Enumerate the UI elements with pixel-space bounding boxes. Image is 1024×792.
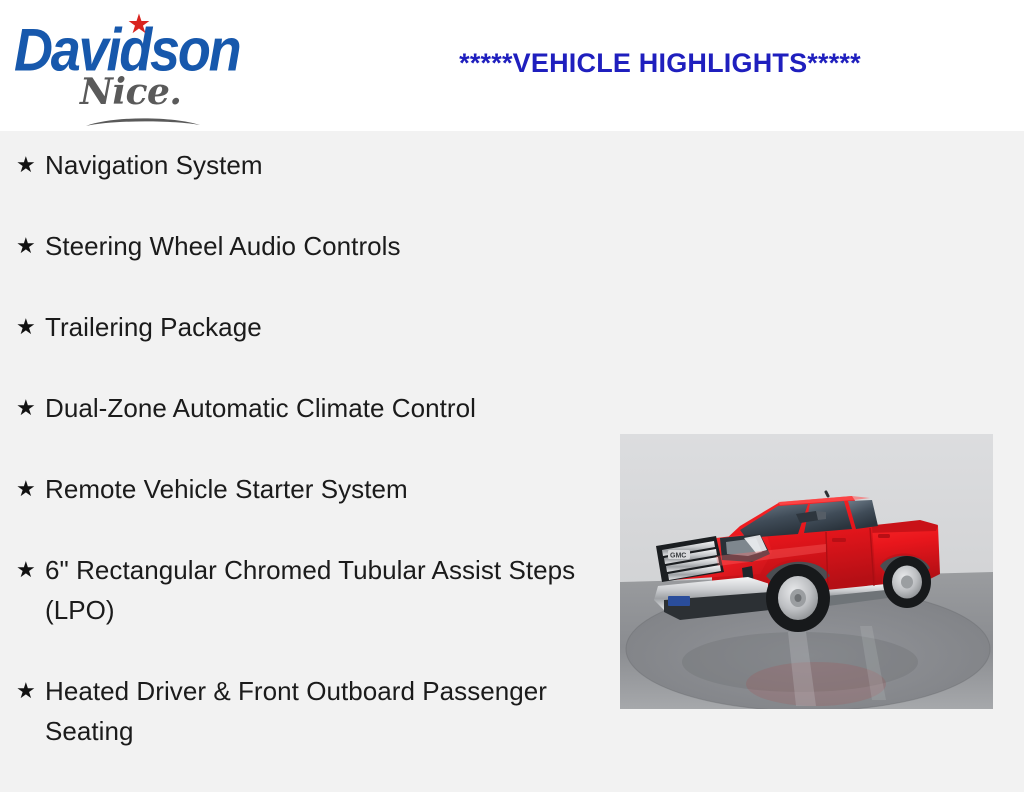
page-title: *****VEHICLE HIGHLIGHTS***** xyxy=(380,48,940,79)
svg-text:GMC: GMC xyxy=(670,553,686,560)
star-bullet-icon: ★ xyxy=(12,388,45,428)
highlight-label: Dual-Zone Automatic Climate Control xyxy=(45,388,612,428)
star-bullet-icon: ★ xyxy=(12,145,45,185)
vehicle-highlights-list: ★ Navigation System ★ Steering Wheel Aud… xyxy=(12,145,612,792)
logo-script-text: Nice. xyxy=(80,74,181,110)
highlight-label: Heated Driver & Front Outboard Passenger… xyxy=(45,671,612,751)
highlight-label: Trailering Package xyxy=(45,307,612,347)
vehicle-highlights-page: Davidson ★ Nice. *****VEHICLE HIGHLIGHTS… xyxy=(0,0,1024,768)
page-header: Davidson ★ Nice. *****VEHICLE HIGHLIGHTS… xyxy=(0,0,1024,131)
logo-swoosh-icon xyxy=(84,114,202,128)
star-bullet-icon: ★ xyxy=(12,550,45,590)
highlight-label: Navigation System xyxy=(45,145,612,185)
list-item: ★ Trailering Package xyxy=(12,307,612,347)
star-bullet-icon: ★ xyxy=(12,671,45,711)
highlight-label: Steering Wheel Audio Controls xyxy=(45,226,612,266)
list-item: ★ 6" Rectangular Chromed Tubular Assist … xyxy=(12,550,612,630)
vehicle-photo[interactable]: GMC xyxy=(620,434,993,709)
star-bullet-icon: ★ xyxy=(12,469,45,509)
list-item: ★ Navigation System xyxy=(12,145,612,185)
list-item: ★ Heated Driver & Front Outboard Passeng… xyxy=(12,671,612,751)
dealer-logo[interactable]: Davidson ★ Nice. xyxy=(14,6,264,124)
star-bullet-icon: ★ xyxy=(12,226,45,266)
highlight-label: 6" Rectangular Chromed Tubular Assist St… xyxy=(45,550,612,630)
list-item: ★ Steering Wheel Audio Controls xyxy=(12,226,612,266)
list-item: ★ Dual-Zone Automatic Climate Control xyxy=(12,388,612,428)
star-bullet-icon: ★ xyxy=(12,307,45,347)
page-content: ★ Navigation System ★ Steering Wheel Aud… xyxy=(0,131,1024,768)
highlight-label: Remote Vehicle Starter System xyxy=(45,469,612,509)
list-item: ★ Remote Vehicle Starter System xyxy=(12,469,612,509)
star-icon: ★ xyxy=(126,11,152,37)
